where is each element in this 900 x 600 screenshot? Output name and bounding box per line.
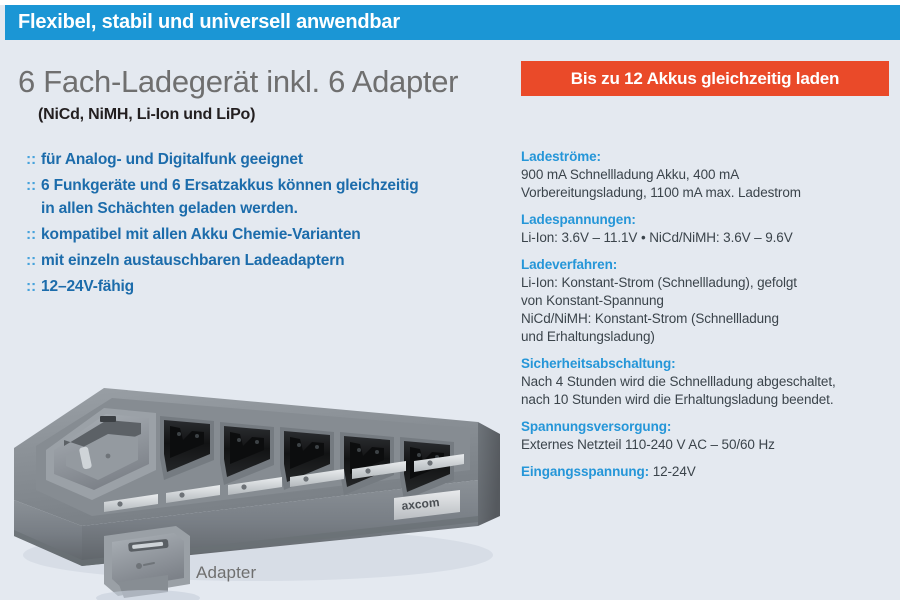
list-item-line: mit einzeln austauschbaren Ladeadaptern <box>41 249 496 272</box>
status-badge: Bis zu 12 Akkus gleichzeitig laden <box>521 61 889 96</box>
spec-line: 900 mA Schnellladung Akku, 400 mA <box>521 166 896 184</box>
product-photo: axcom <box>8 330 508 600</box>
list-item-line: kompatibel mit allen Akku Chemie-Variant… <box>41 223 496 246</box>
list-item-text: 12–24V-fähig <box>41 275 496 298</box>
bullet-marker-icon: :: <box>26 223 36 246</box>
feature-list: :: für Analog- und Digitalfunk geeignet … <box>26 148 496 301</box>
list-item-line: in allen Schächten geladen werden. <box>41 197 496 220</box>
bullet-marker-icon: :: <box>26 174 36 197</box>
spec-heading: Spannungsversorgung: <box>521 418 896 436</box>
spec-line: von Konstant-Spannung <box>521 292 896 310</box>
status-badge-text: Bis zu 12 Akkus gleichzeitig laden <box>571 69 839 89</box>
list-item-text: 6 Funkgeräte und 6 Ersatzakkus können gl… <box>41 174 496 220</box>
spec-line: Li-Ion: Konstant-Strom (Schnellladung), … <box>521 274 896 292</box>
spec-line: Vorbereitungsladung, 1100 mA max. Ladest… <box>521 184 896 202</box>
list-item: :: 6 Funkgeräte und 6 Ersatzakkus können… <box>26 174 496 220</box>
spec-line: nach 10 Stunden wird die Erhaltungsladun… <box>521 391 896 409</box>
spec-heading: Eingangsspannung: <box>521 464 649 479</box>
list-item: :: kompatibel mit allen Akku Chemie-Vari… <box>26 223 496 246</box>
left-column: 6 Fach-Ladegerät inkl. 6 Adapter (NiCd, … <box>0 40 510 600</box>
spec-block-ladestroeme: Ladeströme: 900 mA Schnellladung Akku, 4… <box>521 148 896 202</box>
header-bar: Flexibel, stabil und universell anwendba… <box>5 5 900 40</box>
specifications-list: Ladeströme: 900 mA Schnellladung Akku, 4… <box>521 148 896 490</box>
spec-line: Nach 4 Stunden wird die Schnellladung ab… <box>521 373 896 391</box>
list-item-line: 6 Funkgeräte und 6 Ersatzakkus können gl… <box>41 174 496 197</box>
list-item-text: kompatibel mit allen Akku Chemie-Variant… <box>41 223 496 246</box>
spec-block-spannungsversorgung: Spannungsversorgung: Externes Netzteil 1… <box>521 418 896 454</box>
spec-line: NiCd/NiMH: Konstant-Strom (Schnellladung <box>521 310 896 328</box>
list-item: :: für Analog- und Digitalfunk geeignet <box>26 148 496 171</box>
bullet-marker-icon: :: <box>26 275 36 298</box>
datasheet-page: Flexibel, stabil und universell anwendba… <box>0 0 900 600</box>
list-item-line: für Analog- und Digitalfunk geeignet <box>41 148 496 171</box>
bullet-marker-icon: :: <box>26 249 36 272</box>
charger-illustration: axcom <box>8 330 508 600</box>
spec-inline-row: Eingangsspannung: 12-24V <box>521 463 896 481</box>
list-item-text: für Analog- und Digitalfunk geeignet <box>41 148 496 171</box>
spec-heading: Ladeströme: <box>521 148 896 166</box>
spec-value: 12-24V <box>653 464 696 479</box>
product-title: 6 Fach-Ladegerät inkl. 6 Adapter <box>18 64 458 100</box>
list-item-text: mit einzeln austauschbaren Ladeadaptern <box>41 249 496 272</box>
list-item-line: 12–24V-fähig <box>41 275 496 298</box>
spec-line: Li-Ion: 3.6V – 11.1V • NiCd/NiMH: 3.6V –… <box>521 229 896 247</box>
spec-block-ladeverfahren: Ladeverfahren: Li-Ion: Konstant-Strom (S… <box>521 256 896 346</box>
spec-heading: Ladespannungen: <box>521 211 896 229</box>
spec-line: Externes Netzteil 110-240 V AC – 50/60 H… <box>521 436 896 454</box>
adapter-caption: Adapter <box>196 563 256 583</box>
list-item: :: 12–24V-fähig <box>26 275 496 298</box>
right-column: Bis zu 12 Akkus gleichzeitig laden Lades… <box>510 40 900 600</box>
spec-block-eingangsspannung: Eingangsspannung: 12-24V <box>521 463 896 481</box>
loose-adapter <box>104 526 190 598</box>
bullet-marker-icon: :: <box>26 148 36 171</box>
spec-line: und Erhaltungsladung) <box>521 328 896 346</box>
product-subtitle: (NiCd, NiMH, Li-Ion und LiPo) <box>38 106 255 124</box>
header-title: Flexibel, stabil und universell anwendba… <box>5 11 400 34</box>
spec-heading: Sicherheitsabschaltung: <box>521 355 896 373</box>
spec-heading: Ladeverfahren: <box>521 256 896 274</box>
list-item: :: mit einzeln austauschbaren Ladeadapte… <box>26 249 496 272</box>
spec-block-sicherheitsabschaltung: Sicherheitsabschaltung: Nach 4 Stunden w… <box>521 355 896 409</box>
spec-block-ladespannungen: Ladespannungen: Li-Ion: 3.6V – 11.1V • N… <box>521 211 896 247</box>
